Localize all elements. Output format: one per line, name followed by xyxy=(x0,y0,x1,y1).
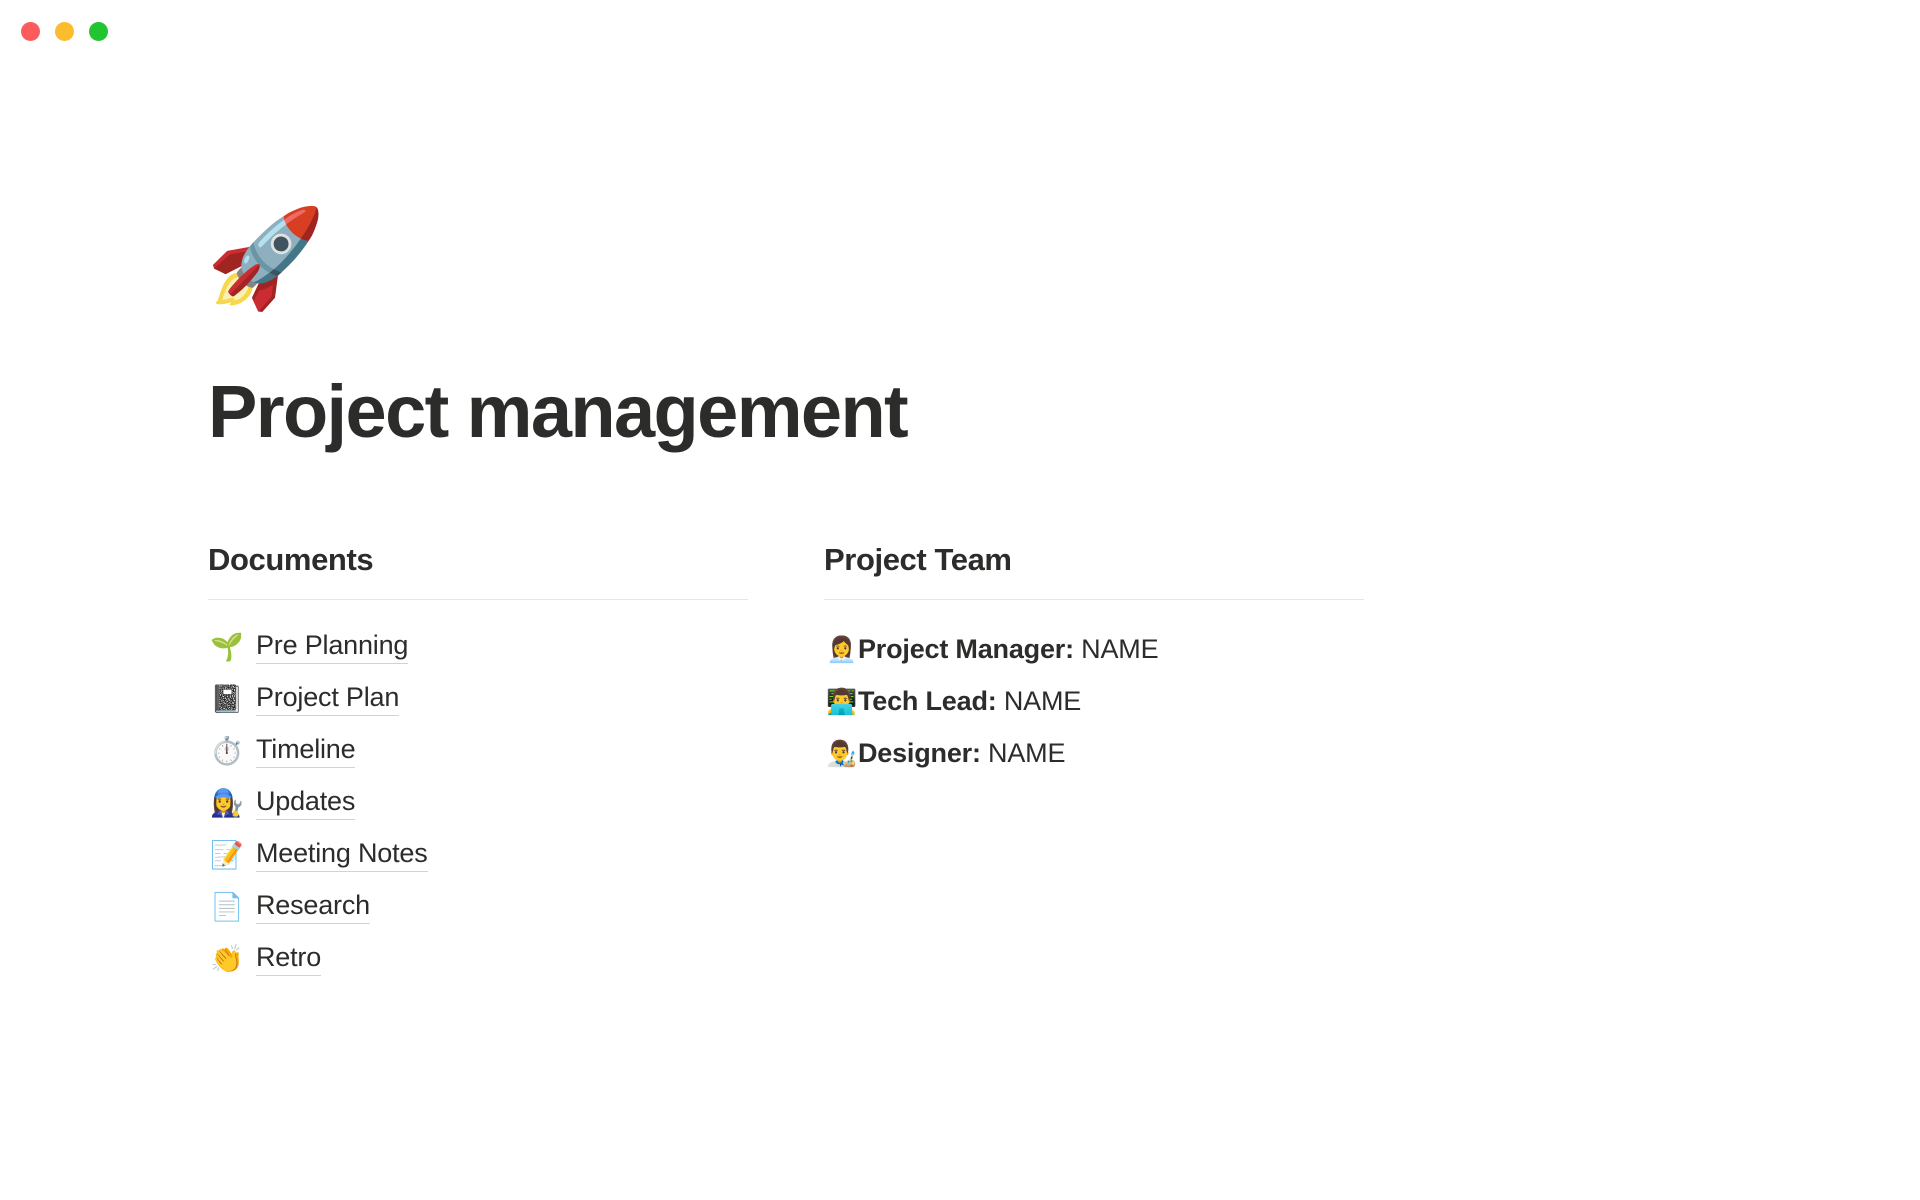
woman-office-worker-icon: 👩‍💼 xyxy=(826,637,858,662)
document-link-timeline[interactable]: Timeline xyxy=(256,735,355,769)
list-item[interactable]: 📓 Project Plan xyxy=(210,674,822,726)
page-content: 🚀 Project management Documents 🌱 Pre Pla… xyxy=(0,62,1920,1200)
list-item: 👨‍💻 Tech Lead: NAME xyxy=(826,676,1444,728)
project-team-heading: Project Team xyxy=(824,542,1444,579)
close-window-button[interactable] xyxy=(21,22,40,41)
document-link-retro[interactable]: Retro xyxy=(256,943,321,977)
rocket-icon[interactable]: 🚀 xyxy=(206,210,326,306)
window-titlebar xyxy=(0,0,1920,62)
list-item[interactable]: 👩‍🔧 Updates xyxy=(210,778,822,830)
traffic-light-group xyxy=(0,22,108,41)
team-member-name: NAME xyxy=(1004,686,1081,716)
notebook-icon: 📓 xyxy=(210,686,256,713)
team-role-label: Designer: xyxy=(858,738,981,768)
list-item[interactable]: ⏱️ Timeline xyxy=(210,726,822,778)
stopwatch-icon: ⏱️ xyxy=(210,738,256,765)
document-link-updates[interactable]: Updates xyxy=(256,787,355,821)
minimize-window-button[interactable] xyxy=(55,22,74,41)
team-role-label: Project Manager: xyxy=(858,634,1074,664)
documents-heading: Documents xyxy=(208,542,822,579)
list-item: 👨‍🎨 Designer: NAME xyxy=(826,728,1444,780)
project-team-section: Project Team 👩‍💼 Project Manager: NAME 👨… xyxy=(824,542,1444,780)
content-columns: Documents 🌱 Pre Planning 📓 Project Plan … xyxy=(0,542,1920,986)
woman-mechanic-icon: 👩‍🔧 xyxy=(210,790,256,817)
list-item[interactable]: 👏 Retro xyxy=(210,934,822,986)
list-item: 👩‍💼 Project Manager: NAME xyxy=(826,624,1444,676)
page-title: Project management xyxy=(208,372,907,452)
team-role-label: Tech Lead: xyxy=(858,686,997,716)
team-member-project-manager: Project Manager: NAME xyxy=(858,635,1158,665)
list-item[interactable]: 📄 Research xyxy=(210,882,822,934)
document-link-pre-planning[interactable]: Pre Planning xyxy=(256,631,408,665)
zoom-window-button[interactable] xyxy=(89,22,108,41)
team-member-name: NAME xyxy=(988,738,1065,768)
project-team-list: 👩‍💼 Project Manager: NAME 👨‍💻 Tech Lead:… xyxy=(824,624,1444,780)
list-item[interactable]: 🌱 Pre Planning xyxy=(210,622,822,674)
documents-divider xyxy=(208,599,748,600)
project-team-divider xyxy=(824,599,1364,600)
team-member-name: NAME xyxy=(1081,634,1158,664)
documents-section: Documents 🌱 Pre Planning 📓 Project Plan … xyxy=(208,542,822,986)
document-link-project-plan[interactable]: Project Plan xyxy=(256,683,399,717)
person-with-laptop-icon: 👨‍💻 xyxy=(826,689,858,714)
app-window: 🚀 Project management Documents 🌱 Pre Pla… xyxy=(0,0,1920,1200)
seedling-icon: 🌱 xyxy=(210,634,256,661)
document-link-research[interactable]: Research xyxy=(256,891,370,925)
clapping-hands-icon: 👏 xyxy=(210,946,256,973)
man-artist-icon: 👨‍🎨 xyxy=(826,741,858,766)
document-link-meeting-notes[interactable]: Meeting Notes xyxy=(256,839,428,873)
memo-icon: 📝 xyxy=(210,842,256,869)
team-member-designer: Designer: NAME xyxy=(858,739,1065,769)
page-facing-up-icon: 📄 xyxy=(210,894,256,921)
list-item[interactable]: 📝 Meeting Notes xyxy=(210,830,822,882)
team-member-tech-lead: Tech Lead: NAME xyxy=(858,687,1081,717)
documents-list: 🌱 Pre Planning 📓 Project Plan ⏱️ Timelin… xyxy=(208,622,822,986)
